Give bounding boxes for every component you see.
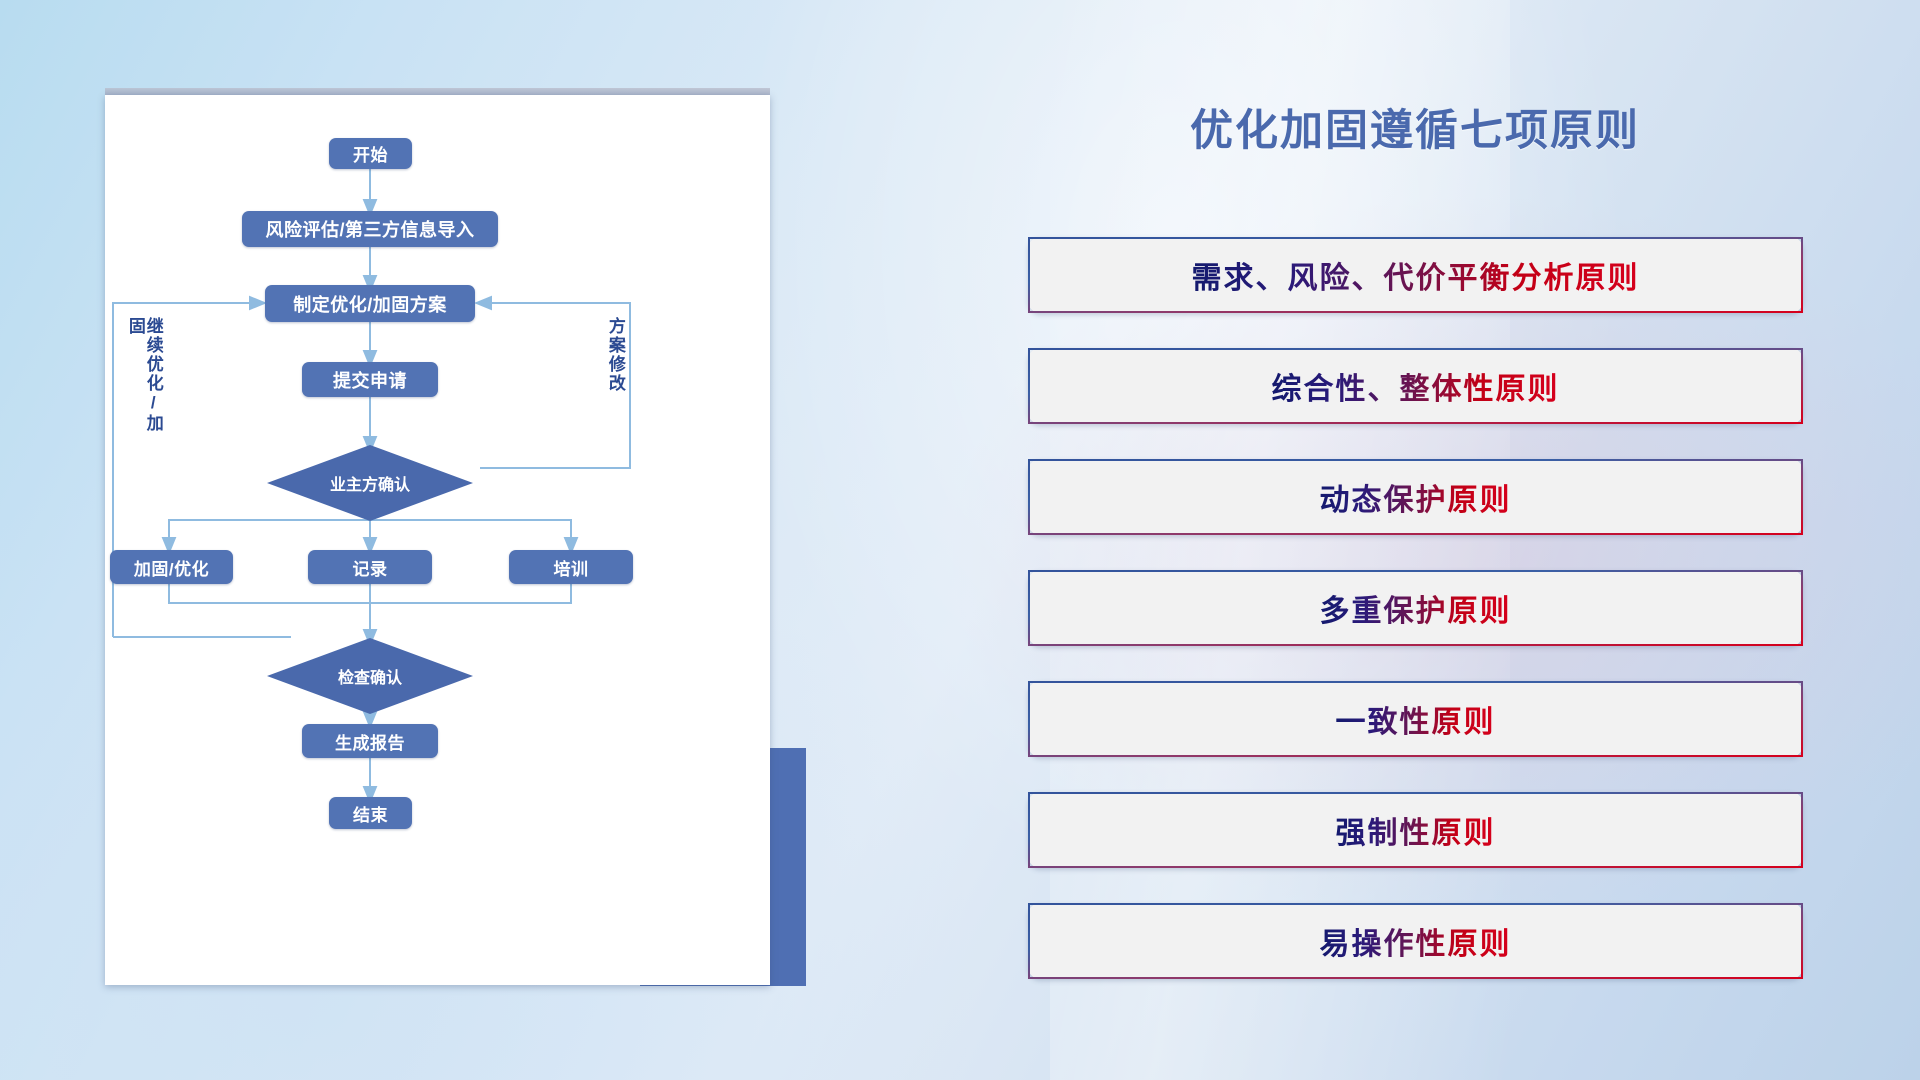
principle-label: 综合性、整体性原则	[1272, 364, 1560, 408]
flow-node-reinforce-optimize[interactable]: 加固/优化	[110, 550, 233, 584]
principle-item-1[interactable]: 需求、风险、代价平衡分析原则	[1028, 237, 1803, 313]
principle-label: 强制性原则	[1336, 808, 1496, 852]
flow-node-label: 培训	[554, 555, 589, 580]
flowchart: 开始 风险评估/第三方信息导入 制定优化/加固方案 提交申请 业主方确认 加固/…	[105, 95, 770, 985]
principle-label: 动态保护原则	[1320, 475, 1512, 519]
flow-decision-owner-confirm[interactable]: 业主方确认	[267, 445, 473, 521]
flow-node-label: 加固/优化	[134, 555, 209, 580]
principle-label: 需求、风险、代价平衡分析原则	[1192, 253, 1640, 297]
flow-node-label: 结束	[353, 801, 388, 826]
flow-edge-label-continue-optimize: 继续优化/加固	[126, 317, 162, 447]
flow-node-make-plan[interactable]: 制定优化/加固方案	[265, 285, 475, 322]
principle-item-4[interactable]: 多重保护原则	[1028, 570, 1803, 646]
flow-decision-inspection-confirm[interactable]: 检查确认	[267, 638, 473, 714]
principle-label: 一致性原则	[1336, 697, 1496, 741]
principle-label: 易操作性原则	[1320, 919, 1512, 963]
flow-node-label: 记录	[353, 555, 388, 580]
flow-node-record[interactable]: 记录	[308, 550, 432, 584]
flow-node-generate-report[interactable]: 生成报告	[302, 724, 438, 758]
flow-node-training[interactable]: 培训	[509, 550, 633, 584]
flow-node-start[interactable]: 开始	[329, 138, 412, 169]
flow-node-submit-application[interactable]: 提交申请	[302, 362, 438, 397]
flow-node-end[interactable]: 结束	[329, 797, 412, 829]
flow-node-label: 制定优化/加固方案	[293, 291, 447, 317]
panel-title: 优化加固遵循七项原则	[1000, 96, 1830, 158]
flow-node-label: 开始	[353, 141, 388, 166]
flow-node-label: 检查确认	[338, 664, 402, 688]
principle-item-5[interactable]: 一致性原则	[1028, 681, 1803, 757]
flow-node-label: 业主方确认	[330, 471, 410, 495]
flow-node-label: 提交申请	[333, 367, 407, 393]
flow-node-label: 风险评估/第三方信息导入	[266, 216, 475, 242]
flow-node-label: 生成报告	[335, 729, 405, 754]
principle-label: 多重保护原则	[1320, 586, 1512, 630]
principle-item-2[interactable]: 综合性、整体性原则	[1028, 348, 1803, 424]
principle-item-3[interactable]: 动态保护原则	[1028, 459, 1803, 535]
flow-node-risk-assessment[interactable]: 风险评估/第三方信息导入	[242, 211, 498, 247]
principle-item-6[interactable]: 强制性原则	[1028, 792, 1803, 868]
principle-item-7[interactable]: 易操作性原则	[1028, 903, 1803, 979]
principles-panel: 优化加固遵循七项原则 需求、风险、代价平衡分析原则 综合性、整体性原则 动态保护…	[1000, 80, 1830, 1010]
flow-edge-label-plan-revision: 方案修改	[606, 317, 624, 413]
